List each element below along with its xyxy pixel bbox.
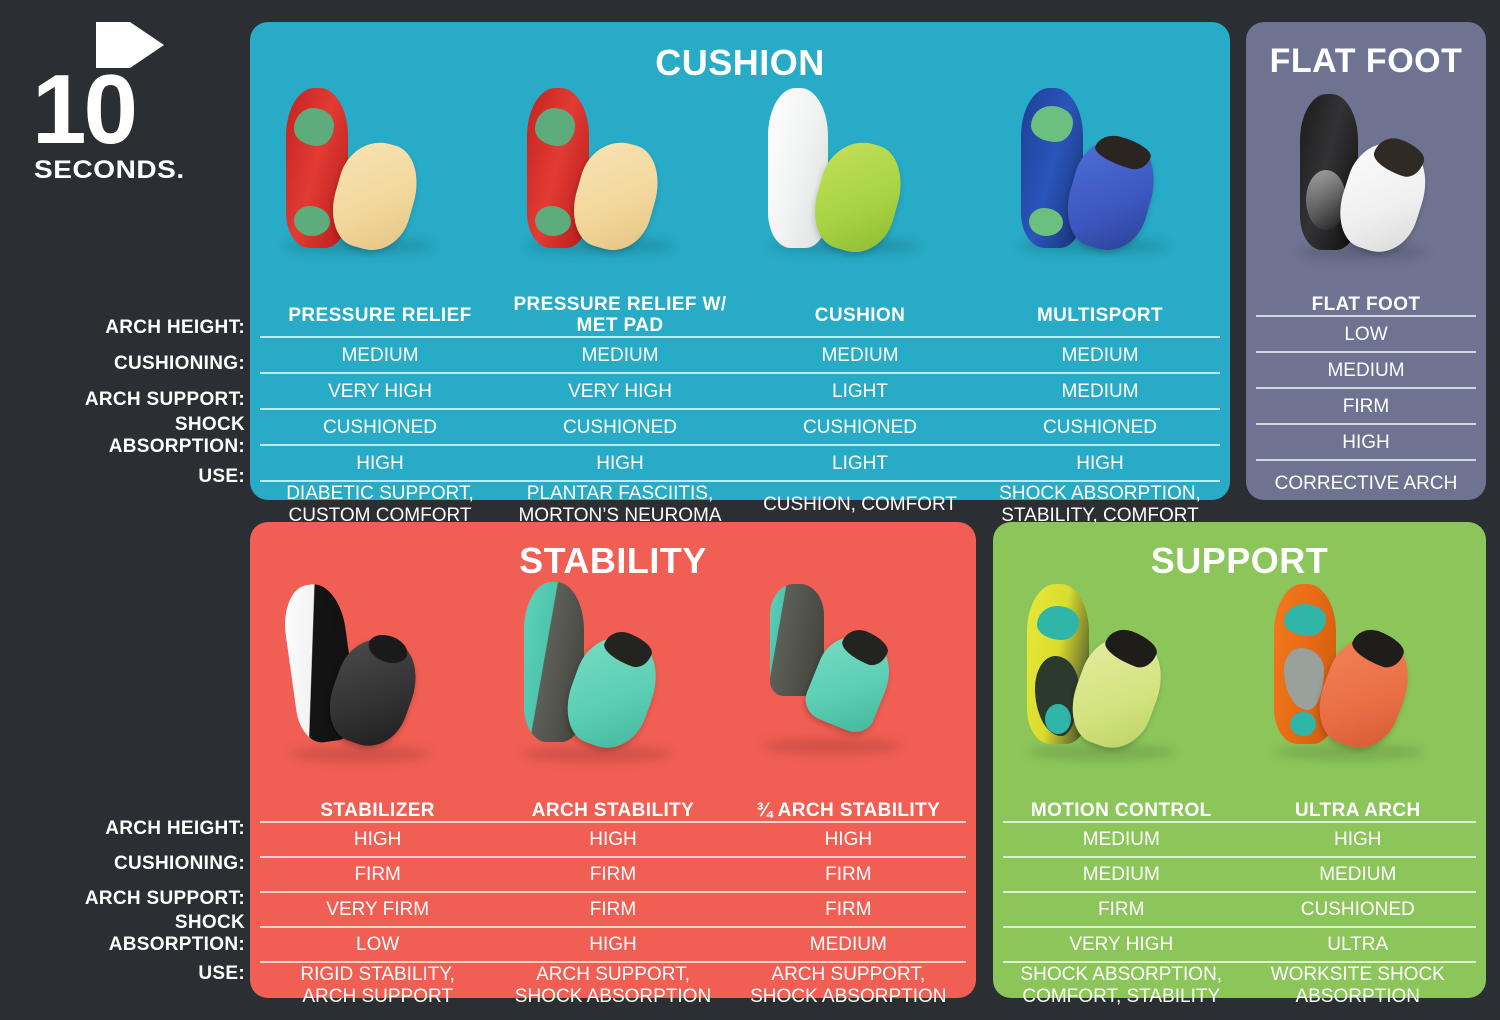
cell-cushioning: MEDIUM: [1256, 351, 1476, 387]
table-header-row: MOTION CONTROL ULTRA ARCH: [1003, 800, 1476, 821]
panel-cushion: CUSHION: [250, 22, 1230, 500]
table-header-row: PRESSURE RELIEF PRESSURE RELIEF W/ MET P…: [260, 294, 1220, 336]
cell-cushioning: FIRM: [495, 856, 730, 891]
table-row: FIRM FIRM FIRM: [260, 856, 966, 891]
product-image-ultra-arch: [1240, 578, 1487, 778]
column-header: CUSHION: [740, 294, 980, 336]
row-labels-top: ARCH HEIGHT: CUSHIONING: ARCH SUPPORT: S…: [40, 310, 245, 500]
table-row: CORRECTIVE ARCH: [1256, 459, 1476, 507]
table-row: VERY HIGH ULTRA: [1003, 926, 1476, 961]
cell-use: ARCH SUPPORT, SHOCK ABSORPTION: [495, 961, 730, 1009]
cell-use: CORRECTIVE ARCH: [1256, 459, 1476, 507]
cell-arch-height: MEDIUM: [500, 336, 740, 372]
panel-title-stability: STABILITY: [250, 540, 976, 582]
cell-cushioning: FIRM: [731, 856, 966, 891]
row-label-cushioning-2: CUSHIONING:: [40, 846, 245, 881]
table-row: VERY FIRM FIRM FIRM: [260, 891, 966, 926]
cell-cushioning: LIGHT: [740, 372, 980, 408]
cell-arch-height: MEDIUM: [980, 336, 1220, 372]
row-label-arch-height-2: ARCH HEIGHT:: [40, 811, 245, 846]
cell-use: SHOCK ABSORPTION, COMFORT, STABILITY: [1003, 961, 1240, 1009]
cell-shock-absorption: HIGH: [980, 444, 1220, 480]
table-row: RIGID STABILITY, ARCH SUPPORT ARCH SUPPO…: [260, 961, 966, 1009]
cell-cushioning: MEDIUM: [1003, 856, 1240, 891]
cell-use: SHOCK ABSORPTION, STABILITY, COMFORT: [980, 480, 1220, 528]
row-label-shock-absorption-2: SHOCK ABSORPTION:: [40, 916, 245, 951]
cell-shock-absorption: LOW: [260, 926, 495, 961]
product-image-three-quarter-arch-stability: [734, 578, 976, 778]
table-row: MEDIUM MEDIUM MEDIUM MEDIUM: [260, 336, 1220, 372]
cell-use: ARCH SUPPORT, SHOCK ABSORPTION: [731, 961, 966, 1009]
table-cushion: PRESSURE RELIEF PRESSURE RELIEF W/ MET P…: [260, 294, 1220, 528]
cell-use: PLANTAR FASCIITIS, MORTON’S NEUROMA: [500, 480, 740, 528]
cell-arch-support: VERY FIRM: [260, 891, 495, 926]
brand-word: SECONDS.: [34, 158, 185, 183]
table-row: VERY HIGH VERY HIGH LIGHT MEDIUM: [260, 372, 1220, 408]
panel-flat-foot: FLAT FOOT FLAT FOOT LOW MEDIUM FIRM HIGH…: [1246, 22, 1486, 500]
cell-shock-absorption: HIGH: [500, 444, 740, 480]
table-row: SHOCK ABSORPTION, COMFORT, STABILITY WOR…: [1003, 961, 1476, 1009]
row-label-cushioning: CUSHIONING:: [40, 346, 245, 382]
table-stability: STABILIZER ARCH STABILITY ¾ ARCH STABILI…: [260, 800, 966, 1009]
cell-arch-support: CUSHIONED: [1240, 891, 1477, 926]
table-row: MEDIUM HIGH: [1003, 821, 1476, 856]
table-row: LOW HIGH MEDIUM: [260, 926, 966, 961]
cell-arch-support: CUSHIONED: [500, 408, 740, 444]
row-label-arch-height: ARCH HEIGHT:: [40, 310, 245, 346]
table-header-row: FLAT FOOT: [1256, 294, 1476, 315]
product-image-pressure-relief-met-pad: [495, 80, 740, 270]
row-label-use: USE:: [40, 454, 245, 500]
product-image-motion-control: [993, 578, 1240, 778]
product-image-pressure-relief: [250, 80, 495, 270]
cell-arch-height: HIGH: [731, 821, 966, 856]
row-labels-bottom: ARCH HEIGHT: CUSHIONING: ARCH SUPPORT: S…: [40, 811, 245, 997]
table-row: FIRM: [1256, 387, 1476, 423]
cell-shock-absorption: HIGH: [260, 444, 500, 480]
product-image-flat-foot: [1246, 84, 1486, 274]
table-row: LOW: [1256, 315, 1476, 351]
table-row: DIABETIC SUPPORT, CUSTOM COMFORT PLANTAR…: [260, 480, 1220, 528]
cell-use: RIGID STABILITY, ARCH SUPPORT: [260, 961, 495, 1009]
cell-arch-support: CUSHIONED: [740, 408, 980, 444]
cell-arch-height: MEDIUM: [740, 336, 980, 372]
cell-arch-support: CUSHIONED: [980, 408, 1220, 444]
column-header: PRESSURE RELIEF W/ MET PAD: [500, 294, 740, 336]
column-header: PRESSURE RELIEF: [260, 294, 500, 336]
product-image-multisport: [985, 80, 1230, 270]
cell-arch-height: HIGH: [1240, 821, 1477, 856]
cell-arch-height: HIGH: [495, 821, 730, 856]
brand-number: 10: [32, 60, 135, 158]
cell-cushioning: VERY HIGH: [260, 372, 500, 408]
panel-stability: STABILITY STABILIZER ARCH STABILITY ¾: [250, 522, 976, 998]
table-row: HIGH HIGH HIGH: [260, 821, 966, 856]
table-support: MOTION CONTROL ULTRA ARCH MEDIUM HIGH ME…: [1003, 800, 1476, 1009]
cell-shock-absorption: VERY HIGH: [1003, 926, 1240, 961]
table-row: MEDIUM: [1256, 351, 1476, 387]
cell-shock-absorption: HIGH: [1256, 423, 1476, 459]
panel-title-cushion: CUSHION: [250, 42, 1230, 84]
row-label-use-2: USE:: [40, 951, 245, 997]
table-row: MEDIUM MEDIUM: [1003, 856, 1476, 891]
table-row: FIRM CUSHIONED: [1003, 891, 1476, 926]
row-label-shock-absorption: SHOCK ABSORPTION:: [40, 418, 245, 454]
cell-use: CUSHION, COMFORT: [740, 480, 980, 528]
column-header: STABILIZER: [260, 800, 495, 821]
cell-arch-height: MEDIUM: [260, 336, 500, 372]
cell-use: DIABETIC SUPPORT, CUSTOM COMFORT: [260, 480, 500, 528]
cell-use: WORKSITE SHOCK ABSORPTION: [1240, 961, 1477, 1009]
cell-cushioning: MEDIUM: [1240, 856, 1477, 891]
column-header: ARCH STABILITY: [495, 800, 730, 821]
cell-arch-support: FIRM: [1003, 891, 1240, 926]
cell-cushioning: MEDIUM: [980, 372, 1220, 408]
cell-arch-height: HIGH: [260, 821, 495, 856]
table-header-row: STABILIZER ARCH STABILITY ¾ ARCH STABILI…: [260, 800, 966, 821]
column-header: ULTRA ARCH: [1240, 800, 1477, 821]
cell-shock-absorption: HIGH: [495, 926, 730, 961]
cell-shock-absorption: LIGHT: [740, 444, 980, 480]
row-label-arch-support: ARCH SUPPORT:: [40, 382, 245, 418]
table-row: HIGH HIGH LIGHT HIGH: [260, 444, 1220, 480]
product-image-stabilizer: [250, 578, 492, 778]
cell-cushioning: VERY HIGH: [500, 372, 740, 408]
panel-title-support: SUPPORT: [993, 540, 1486, 582]
column-header: FLAT FOOT: [1256, 294, 1476, 315]
cell-cushioning: FIRM: [260, 856, 495, 891]
cell-arch-support: FIRM: [1256, 387, 1476, 423]
product-image-cushion: [740, 80, 985, 270]
column-header: MULTISPORT: [980, 294, 1220, 336]
table-row: HIGH: [1256, 423, 1476, 459]
cell-arch-support: FIRM: [495, 891, 730, 926]
cell-arch-support: FIRM: [731, 891, 966, 926]
cell-arch-height: LOW: [1256, 315, 1476, 351]
table-row: CUSHIONED CUSHIONED CUSHIONED CUSHIONED: [260, 408, 1220, 444]
product-image-arch-stability: [492, 578, 734, 778]
cell-shock-absorption: ULTRA: [1240, 926, 1477, 961]
column-header: MOTION CONTROL: [1003, 800, 1240, 821]
cell-arch-height: MEDIUM: [1003, 821, 1240, 856]
table-flat-foot: FLAT FOOT LOW MEDIUM FIRM HIGH CORRECTIV…: [1256, 294, 1476, 507]
panel-title-flat-foot: FLAT FOOT: [1246, 42, 1486, 81]
cell-shock-absorption: MEDIUM: [731, 926, 966, 961]
cell-arch-support: CUSHIONED: [260, 408, 500, 444]
column-header: ¾ ARCH STABILITY: [731, 800, 966, 821]
panel-support: SUPPORT MOTION CONTROL ULTRA ARCH: [993, 522, 1486, 998]
brand-logo: 10 SECONDS.: [32, 22, 162, 172]
